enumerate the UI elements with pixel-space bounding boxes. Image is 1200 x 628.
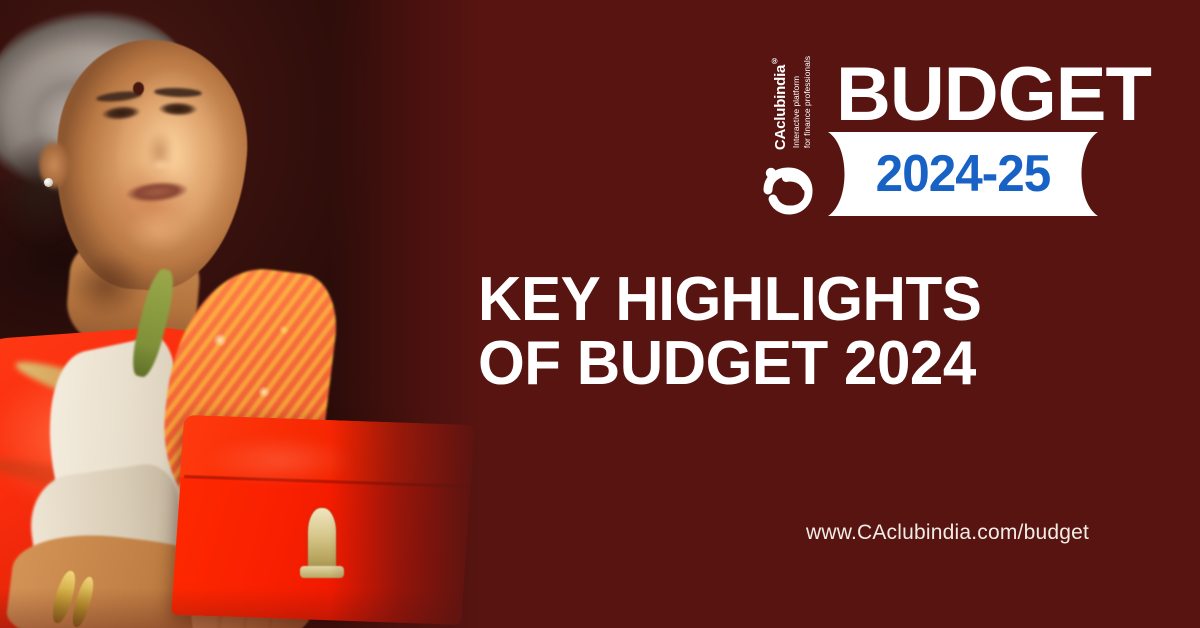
photo-bottom-fade: [0, 588, 480, 628]
website-url[interactable]: www.CAclubindia.com/budget: [806, 521, 1089, 545]
page-title: KEY HIGHLIGHTS OF BUDGET 2024: [478, 268, 1118, 396]
nose-highlight: [148, 158, 174, 172]
budget-promo-banner: CAclubindia® Interactive platformfor fin…: [0, 0, 1200, 628]
brand-lockup: CAclubindia® Interactive platformfor fin…: [758, 56, 1098, 218]
logo-tagline: Interactive platformfor finance professi…: [791, 56, 813, 148]
earring: [44, 178, 53, 187]
logo-wordmark: CAclubindia® Interactive platformfor fin…: [770, 56, 813, 176]
ear: [38, 140, 70, 190]
headline-line-2: OF BUDGET 2024: [478, 332, 1118, 396]
badge-budget-word: BUDGET: [836, 56, 1151, 134]
registered-mark: ®: [770, 56, 779, 65]
chin: [118, 205, 198, 259]
headline-line-1: KEY HIGHLIGHTS: [478, 265, 981, 334]
bindi: [133, 82, 144, 95]
logo-name: CAclubindia®: [770, 56, 789, 150]
caclubindia-glyph-icon: [762, 160, 818, 218]
caclubindia-logo[interactable]: CAclubindia® Interactive platformfor fin…: [758, 56, 822, 218]
year-ribbon: 2024-25: [828, 132, 1098, 216]
photo-right-fade: [330, 0, 480, 628]
badge-year: 2024-25: [835, 132, 1092, 216]
minister-portrait-photo: [0, 0, 480, 628]
